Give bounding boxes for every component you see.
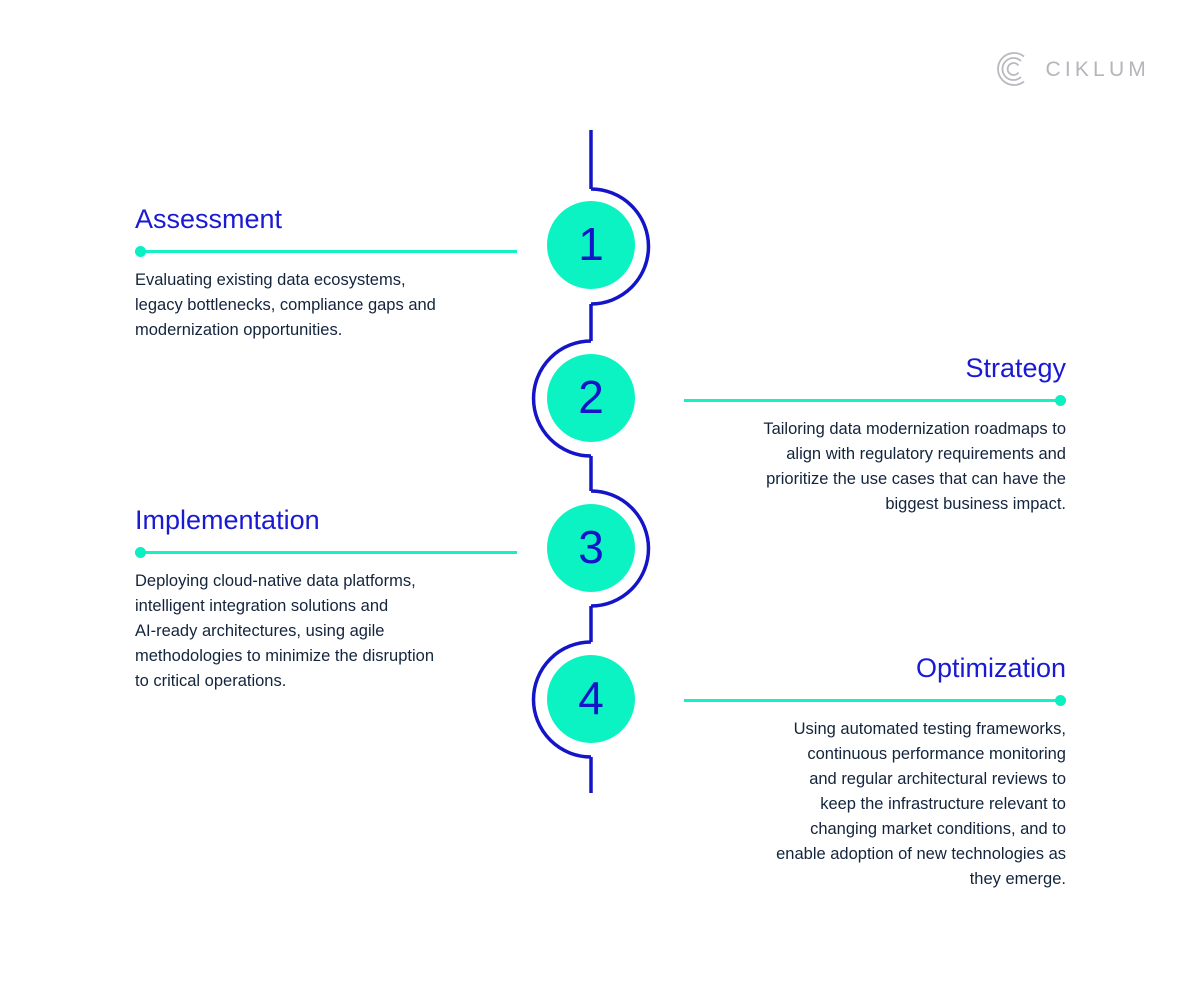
step-circle-2[interactable]: 2 [547,354,635,442]
step-rule-4 [684,695,1066,706]
step-description-3: Deploying cloud-native data platforms, i… [135,569,517,694]
step-number-4: 4 [578,675,604,721]
step-number-2: 2 [578,374,604,420]
ciklum-arc-mark-icon [994,50,1032,88]
rule-bar [684,699,1066,702]
step-block-4: Optimization Using automated testing fra… [684,653,1066,892]
step-circle-1[interactable]: 1 [547,201,635,289]
step-block-1: Assessment Evaluating existing data ecos… [135,204,517,343]
step-title-1: Assessment [135,204,517,235]
step-block-3: Implementation Deploying cloud-native da… [135,505,517,694]
step-block-2: Strategy Tailoring data modernization ro… [684,353,1066,517]
step-title-3: Implementation [135,505,517,536]
rule-bar [135,551,517,554]
step-description-4: Using automated testing frameworks, cont… [684,717,1066,892]
rule-bar [135,250,517,253]
step-circle-4[interactable]: 4 [547,655,635,743]
rule-dot [135,547,146,558]
rule-bar [684,399,1066,402]
step-number-1: 1 [578,221,604,267]
step-circle-3[interactable]: 3 [547,504,635,592]
rule-dot [1055,695,1066,706]
step-description-2: Tailoring data modernization roadmaps to… [684,417,1066,517]
step-title-2: Strategy [684,353,1066,384]
rule-dot [1055,395,1066,406]
step-title-4: Optimization [684,653,1066,684]
brand-wordmark: CIKLUM [1045,59,1150,80]
step-description-1: Evaluating existing data ecosystems, leg… [135,268,517,343]
brand-logo: CIKLUM [994,50,1150,88]
step-rule-3 [135,547,517,558]
step-rule-2 [684,395,1066,406]
rule-dot [135,246,146,257]
step-number-3: 3 [578,524,604,570]
step-rule-1 [135,246,517,257]
